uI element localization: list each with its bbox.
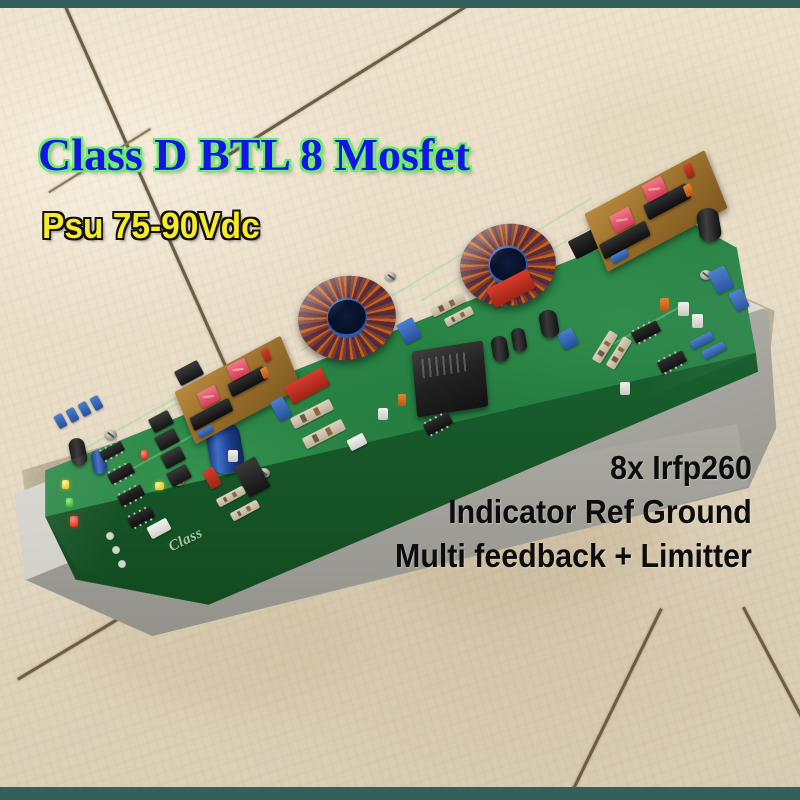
film-capacitor <box>660 298 669 311</box>
indicator-led <box>66 498 73 507</box>
film-capacitor <box>65 407 80 424</box>
toroidal-inductor <box>291 268 402 368</box>
indicator-led <box>62 480 69 489</box>
film-capacitor <box>261 347 272 362</box>
film-capacitor <box>89 395 104 412</box>
mounting-screw <box>105 430 117 440</box>
spec-line-mosfets: 8x Irfp260 <box>395 446 752 490</box>
solder-pad <box>112 546 120 554</box>
spec-line-feedback: Multi feedback + Limitter <box>395 534 752 578</box>
spec-line-indicator: Indicator Ref Ground <box>395 490 752 534</box>
ceramic-capacitor <box>228 450 238 462</box>
film-capacitor <box>683 162 695 179</box>
solder-pad <box>118 560 126 568</box>
letterbox-band-bottom <box>0 787 800 800</box>
film-capacitor <box>53 413 68 430</box>
indicator-led <box>70 516 78 527</box>
overlay-subtitle: Psu 75-90Vdc <box>42 208 260 244</box>
ceramic-capacitor <box>692 314 703 328</box>
film-capacitor <box>398 394 406 406</box>
letterbox-band-top <box>0 0 800 8</box>
solder-pad <box>106 532 114 540</box>
indicator-led <box>141 450 147 460</box>
film-capacitor <box>77 401 92 418</box>
overlay-title: Class D BTL 8 Mosfet <box>38 132 470 178</box>
indicator-led <box>155 482 164 490</box>
product-photo-canvas: Class <box>0 0 800 800</box>
overlay-spec-list: 8x Irfp260 Indicator Ref Ground Multi fe… <box>364 446 752 578</box>
ceramic-capacitor <box>620 382 630 395</box>
ceramic-capacitor <box>378 408 388 420</box>
relay <box>412 340 489 417</box>
ceramic-capacitor <box>678 302 689 316</box>
